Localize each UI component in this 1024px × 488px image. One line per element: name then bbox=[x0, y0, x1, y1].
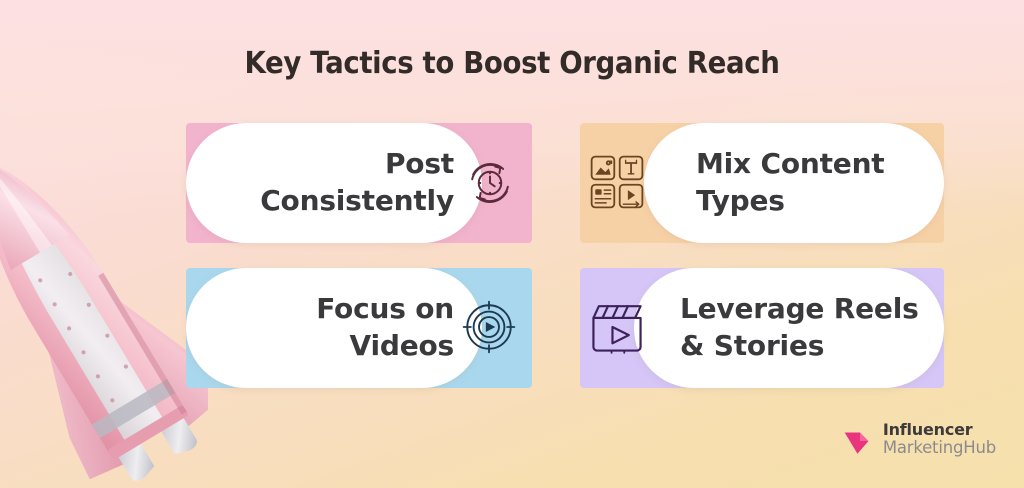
clapperboard-play-icon bbox=[588, 298, 648, 358]
content-types-grid-icon bbox=[588, 153, 648, 213]
pink-arrow-mark-icon bbox=[843, 424, 877, 458]
target-play-icon bbox=[460, 298, 520, 358]
tactic-card-mix-content-types[interactable]: Mix Content Types bbox=[580, 123, 944, 243]
brand-line-1: Influencer bbox=[883, 421, 996, 438]
tactic-card-leverage-reels-stories[interactable]: Leverage Reels & Stories bbox=[580, 268, 944, 388]
tactic-card-post-consistently[interactable]: Post Consistently bbox=[186, 123, 532, 243]
card-label: Focus on Videos bbox=[186, 268, 454, 388]
brand-line-2: MarketingHub bbox=[883, 439, 996, 457]
card-label: Post Consistently bbox=[186, 123, 454, 243]
card-label: Leverage Reels & Stories bbox=[664, 268, 944, 388]
pink-rocket-illustration bbox=[0, 116, 208, 488]
card-label: Mix Content Types bbox=[676, 123, 944, 243]
page-title: Key Tactics to Boost Organic Reach bbox=[41, 46, 983, 81]
brand-logo-text: Influencer MarketingHub bbox=[883, 421, 996, 456]
brand-logo[interactable]: Influencer MarketingHub bbox=[843, 420, 996, 458]
clock-refresh-icon bbox=[460, 153, 520, 213]
tactic-card-focus-on-videos[interactable]: Focus on Videos bbox=[186, 268, 532, 388]
infographic-canvas: Key Tactics to Boost Organic Reach Post … bbox=[0, 0, 1024, 488]
